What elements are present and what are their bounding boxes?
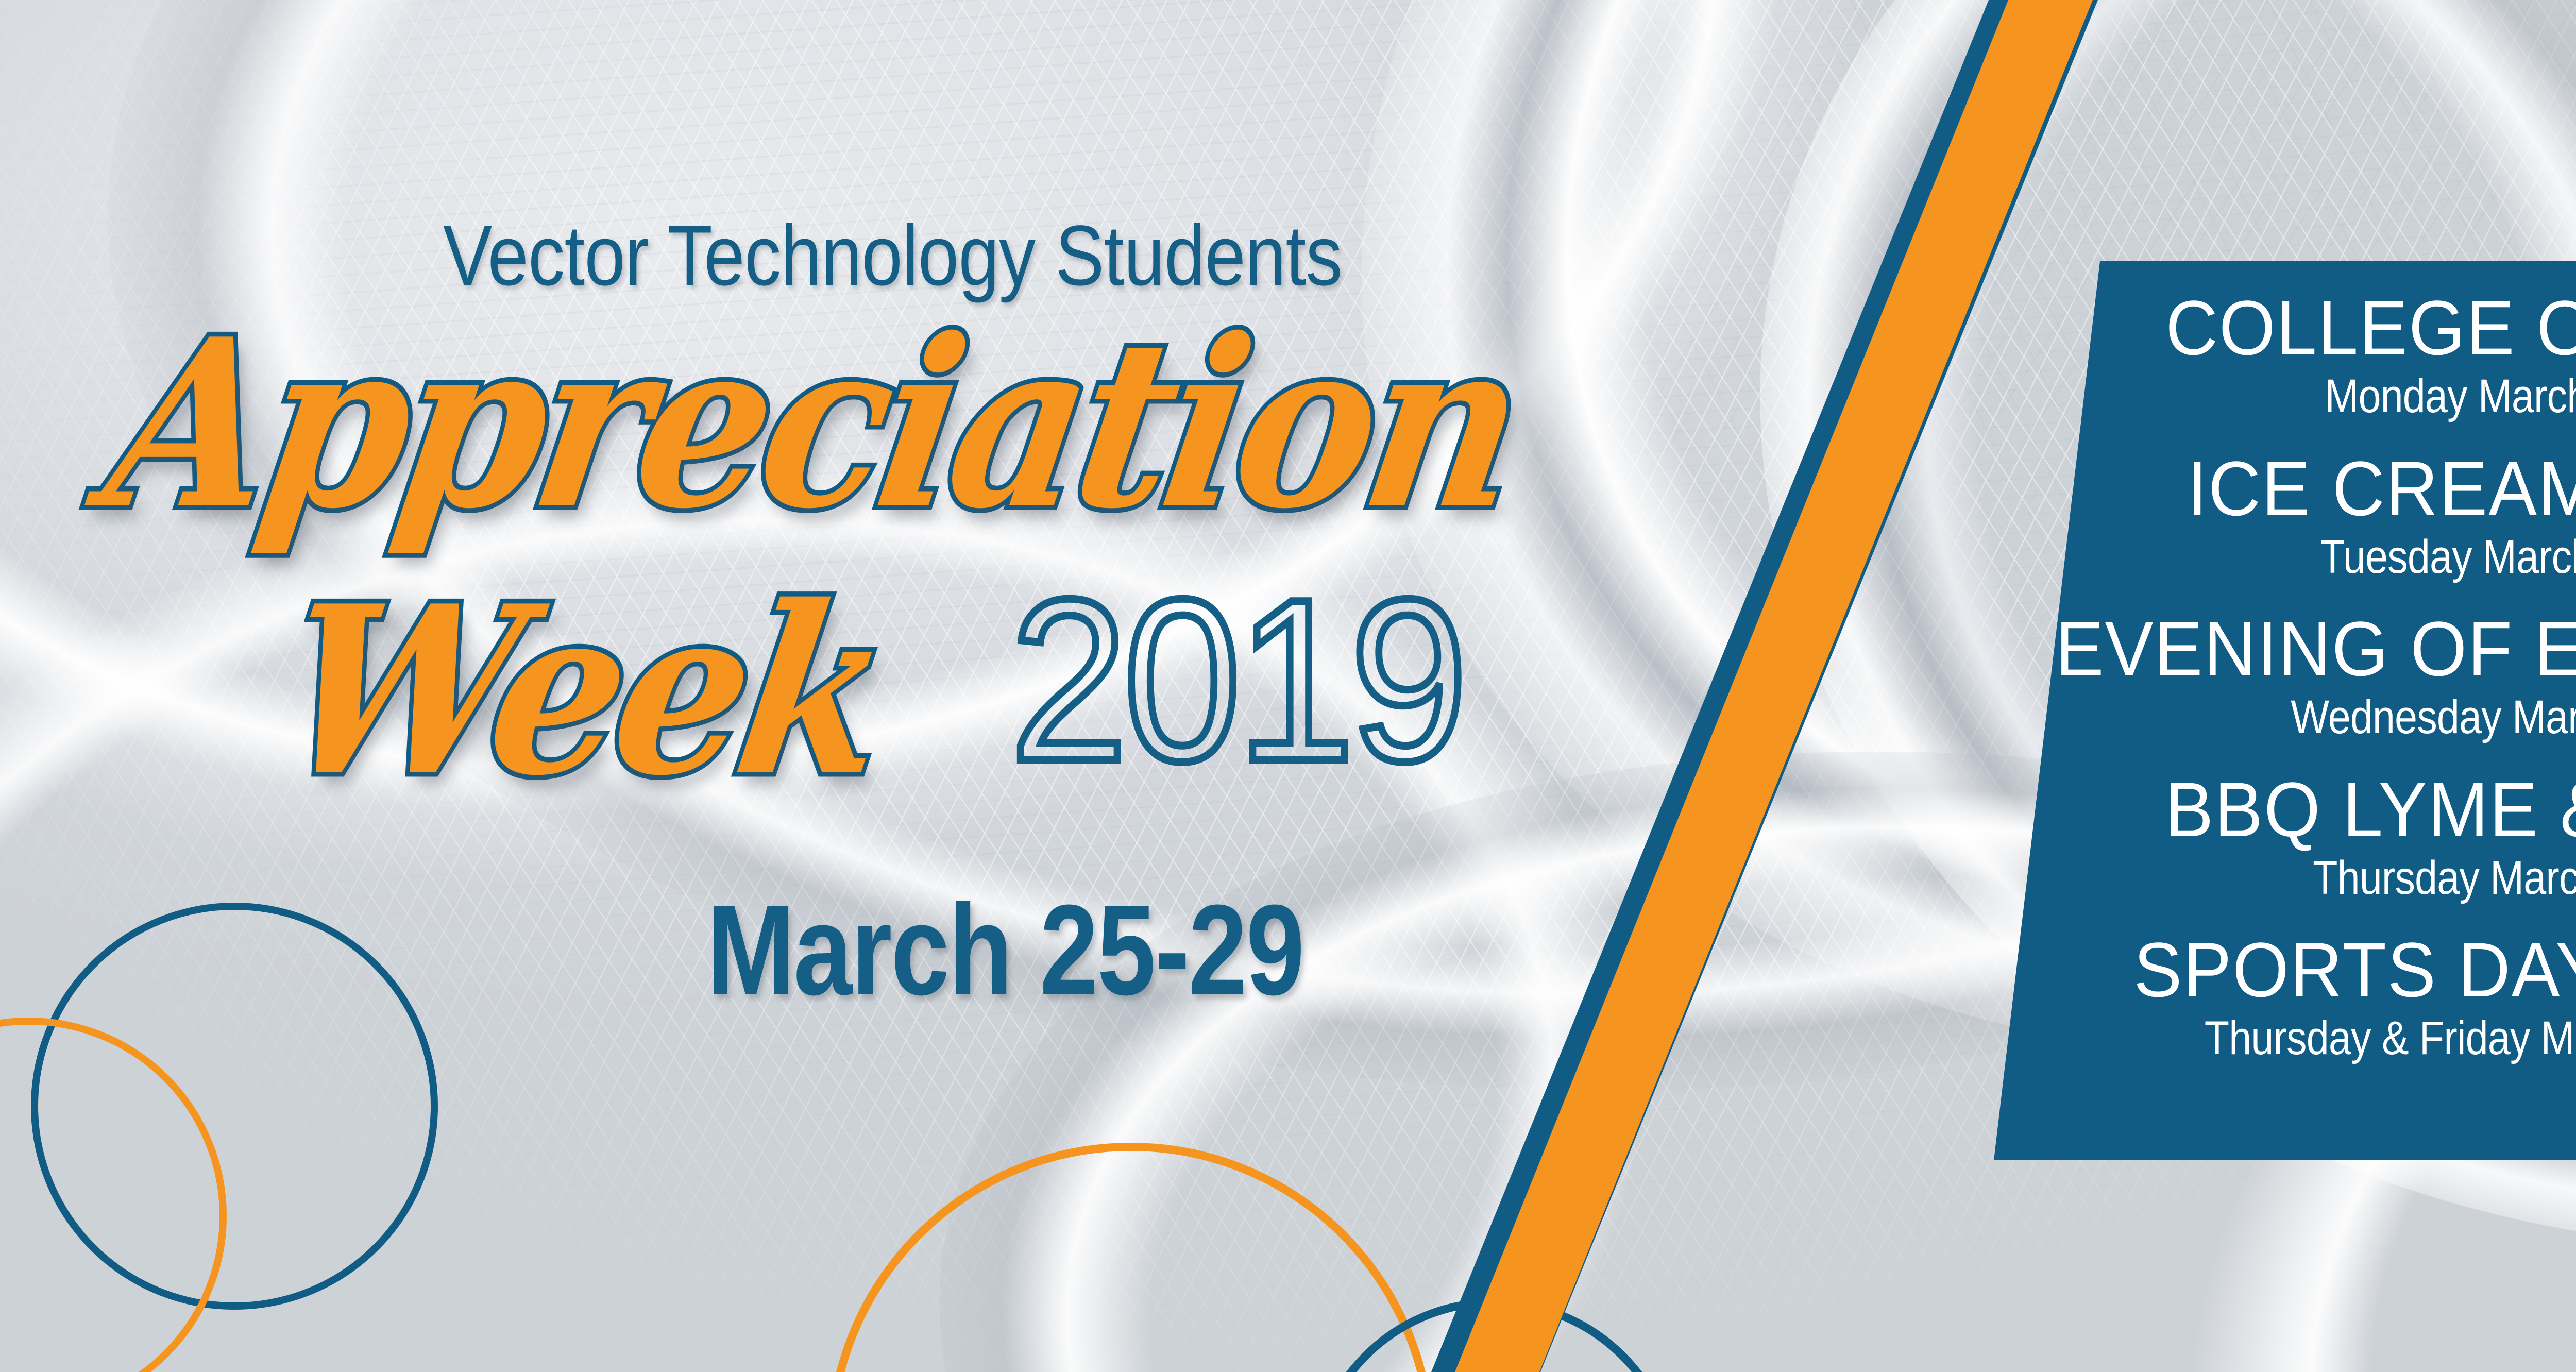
schedule-item: ICE CREAM SOCIAL Tuesday March 26, 2019 — [2009, 449, 2576, 585]
event-title: BBQ LYME & RAFFLE — [2041, 770, 2576, 849]
event-date: Monday March 25, 2019 — [2083, 368, 2576, 425]
schedule-list: COLLEGE OPEN DAY Monday March 25, 2019 I… — [2009, 289, 2576, 1139]
event-date: Thursday & Friday March 28-29, 2019 — [2083, 1010, 2576, 1066]
event-title: SPORTS DAY/ FUNDAY — [2041, 930, 2576, 1009]
event-title: COLLEGE OPEN DAY — [2041, 289, 2576, 367]
schedule-item: EVENING OF EXCELLENCE Wednesday March 27… — [2009, 609, 2576, 746]
appreciation-week-banner: Vector Technology Students Appreciation … — [0, 0, 2576, 1372]
schedule-item: SPORTS DAY/ FUNDAY Thursday & Friday Mar… — [2009, 930, 2576, 1066]
schedule-item: BBQ LYME & RAFFLE Thursday March 28, 201… — [2009, 770, 2576, 906]
event-date: Tuesday March 26, 2019 — [2083, 529, 2576, 585]
event-date: Wednesday March 27, 2019 — [2083, 689, 2576, 746]
schedule-item: COLLEGE OPEN DAY Monday March 25, 2019 — [2009, 289, 2576, 425]
event-title: EVENING OF EXCELLENCE — [2041, 609, 2576, 688]
event-date: Thursday March 28, 2019 — [2083, 850, 2576, 906]
event-title: ICE CREAM SOCIAL — [2041, 449, 2576, 528]
